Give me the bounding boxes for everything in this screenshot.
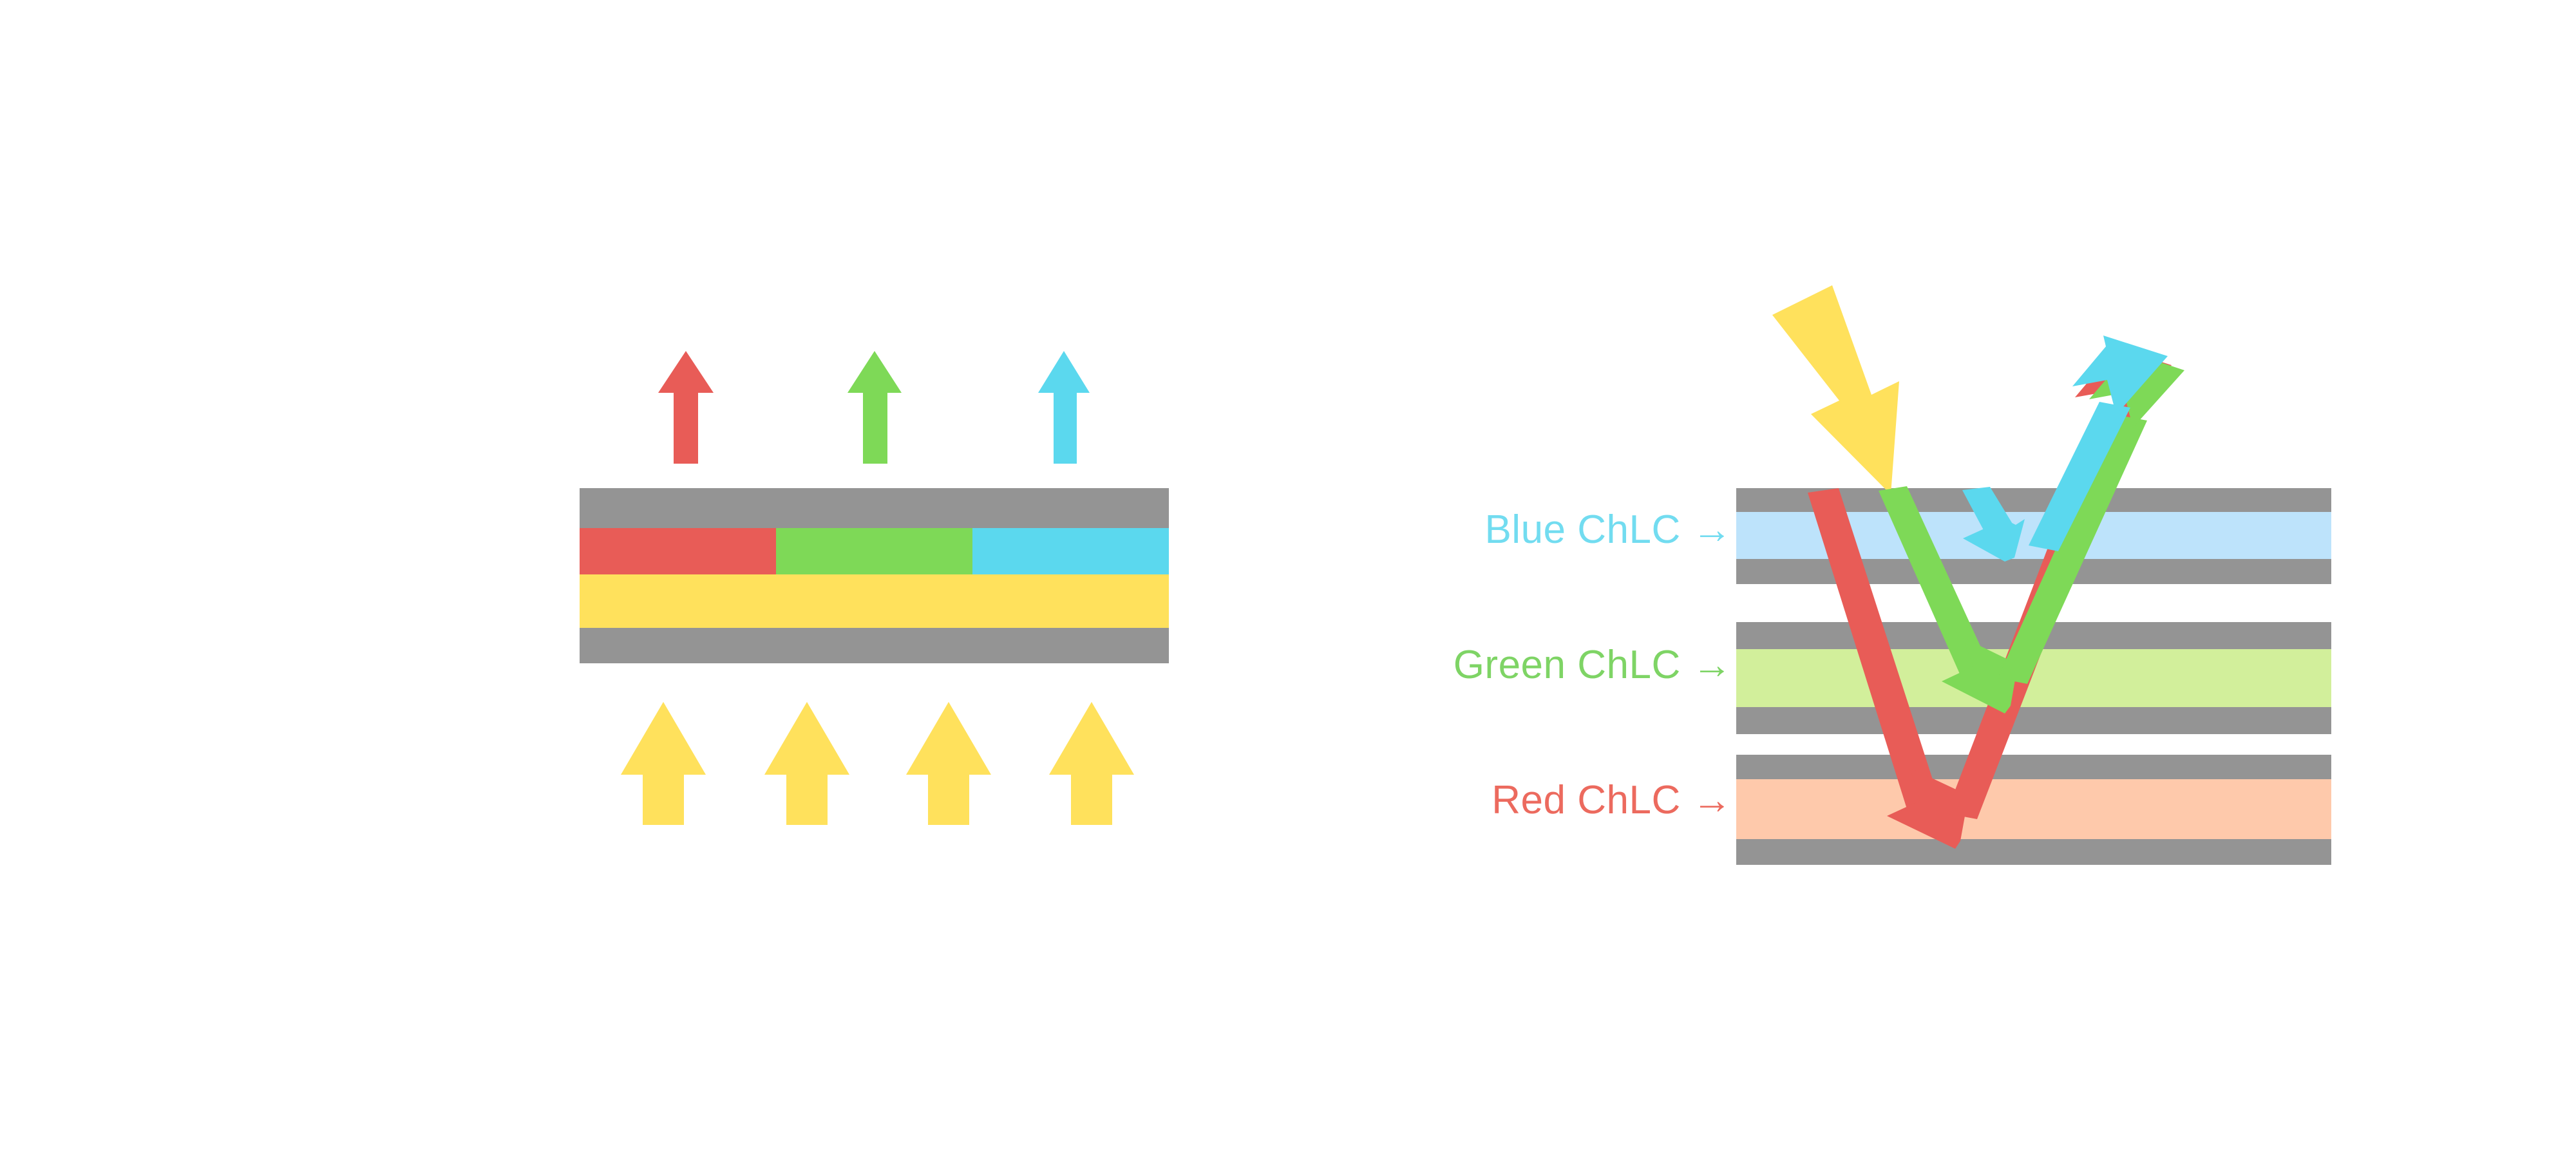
- diagram-canvas: Blue ChLC → Green ChLC → Red ChLC →: [0, 0, 2576, 1154]
- blue-chlc-stack: [1736, 488, 2331, 584]
- backlight-arrow-4: [1049, 702, 1134, 825]
- green-emission-arrow: [848, 351, 902, 464]
- red-chlc-label: Red ChLC →: [1423, 780, 1732, 820]
- blue-top-electrode: [1736, 488, 2331, 512]
- left-layer-color-filter: [580, 528, 1169, 574]
- green-chlc-layer: [1736, 649, 2331, 707]
- backlight-arrow-1: [621, 702, 706, 825]
- blue-filter-segment: [972, 528, 1169, 574]
- green-chlc-label-text: Green ChLC: [1454, 643, 1681, 687]
- left-layer-backlight: [580, 574, 1169, 628]
- red-chlc-label-text: Red ChLC: [1492, 778, 1680, 822]
- backlight-arrow-2: [764, 702, 849, 825]
- green-chlc-stack: [1736, 622, 2331, 734]
- red-chlc-label-arrow-icon: →: [1692, 778, 1733, 822]
- left-layer-top-electrode: [580, 488, 1169, 528]
- red-top-electrode: [1736, 755, 2331, 779]
- red-emission-arrow: [658, 351, 714, 464]
- blue-chlc-label-text: Blue ChLC: [1484, 507, 1680, 552]
- green-filter-segment: [776, 528, 972, 574]
- blue-chlc-label: Blue ChLC →: [1410, 510, 1732, 550]
- red-chlc-stack: [1736, 755, 2331, 865]
- green-top-electrode: [1736, 622, 2331, 649]
- blue-chlc-layer: [1736, 512, 2331, 559]
- blue-emission-arrow: [1038, 351, 1090, 464]
- red-bottom-electrode: [1736, 839, 2331, 865]
- green-bottom-electrode: [1736, 707, 2331, 734]
- blue-bottom-electrode: [1736, 559, 2331, 584]
- green-chlc-label-arrow-icon: →: [1692, 643, 1733, 687]
- red-chlc-layer: [1736, 779, 2331, 839]
- backlight-arrow-3: [906, 702, 991, 825]
- blue-chlc-label-arrow-icon: →: [1692, 507, 1733, 552]
- reflective-chlc-stack-diagram: [1736, 488, 2331, 865]
- transmissive-stack-diagram: [580, 488, 1169, 663]
- green-chlc-label: Green ChLC →: [1385, 645, 1732, 685]
- left-layer-bottom-electrode: [580, 628, 1169, 663]
- red-filter-segment: [580, 528, 776, 574]
- incident-light-arrow: [1772, 285, 1899, 495]
